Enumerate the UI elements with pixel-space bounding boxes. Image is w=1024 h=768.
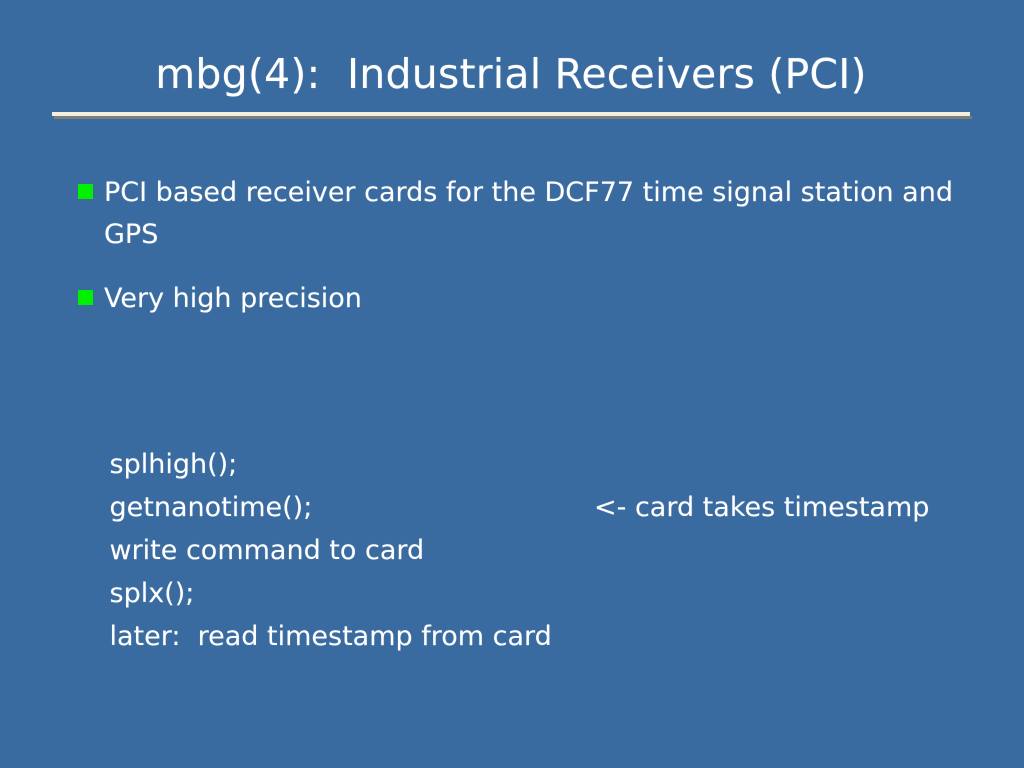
list-item: PCI based receiver cards for the DCF77 t… bbox=[78, 172, 958, 256]
bullet-list: PCI based receiver cards for the DCF77 t… bbox=[78, 172, 958, 342]
code-line-text: later: read timestamp from card bbox=[110, 621, 552, 652]
bullet-text: Very high precision bbox=[104, 283, 362, 314]
code-block: splhigh(); getnanotime(); write command … bbox=[58, 400, 1008, 615]
bullet-text: PCI based receiver cards for the DCF77 t… bbox=[104, 177, 962, 250]
page-title: mbg(4): Industrial Receivers (PCI) bbox=[52, 52, 970, 98]
green-square-bullet-icon bbox=[78, 290, 93, 305]
code-line: later: read timestamp from card bbox=[58, 572, 1008, 615]
code-line-annotation: <- card takes timestamp bbox=[594, 486, 929, 529]
presentation-slide: mbg(4): Industrial Receivers (PCI) PCI b… bbox=[0, 0, 1024, 768]
title-divider bbox=[52, 112, 970, 119]
green-square-bullet-icon bbox=[78, 184, 93, 199]
code-line: splx(); bbox=[58, 529, 1008, 572]
code-line: write command to card <- card takes time… bbox=[58, 486, 1008, 529]
title-divider-shadow bbox=[54, 116, 972, 119]
slide-title-block: mbg(4): Industrial Receivers (PCI) bbox=[52, 52, 970, 98]
code-line: splhigh(); bbox=[58, 400, 1008, 443]
list-item: Very high precision bbox=[78, 278, 958, 320]
code-line: getnanotime(); bbox=[58, 443, 1008, 486]
